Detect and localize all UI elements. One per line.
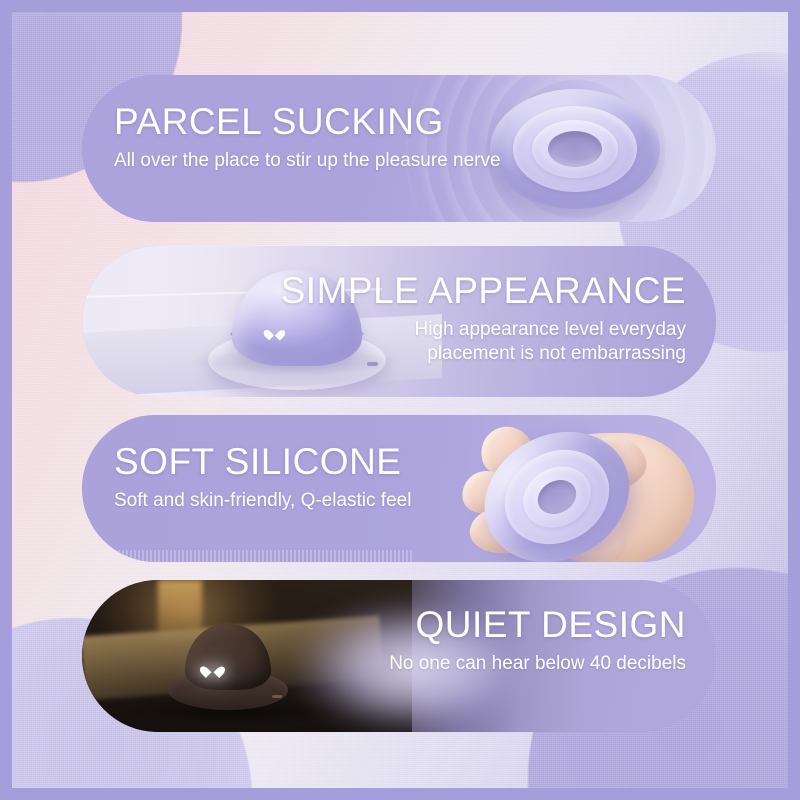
hand-illustration (454, 423, 704, 562)
feature-subtitle-3-line-1: Soft and skin-friendly, Q-elastic feel (114, 489, 411, 513)
night-device-charge-port (272, 695, 282, 698)
feature-panel-quiet-design: QUIET DESIGN No one can hear below 40 de… (82, 580, 716, 732)
feature-subtitle-4-line-1: No one can hear below 40 decibels (389, 652, 686, 676)
heart-indicator-light-icon (205, 664, 220, 678)
feature-subtitle-2: High appearance level everyday placement… (281, 318, 686, 367)
feature-panel-simple-appearance: SIMPLE APPEARANCE High appearance level … (82, 246, 716, 397)
feature-title-2: SIMPLE APPEARANCE (281, 272, 686, 309)
ring-device-suction-hole (548, 131, 602, 167)
night-device-illustration (168, 624, 288, 710)
feature-subtitle-4: No one can hear below 40 decibels (389, 652, 686, 676)
heart-glyph (268, 328, 281, 340)
heart-glyph (205, 664, 220, 678)
feature-panel-soft-silicone: SOFT SILICONE Soft and skin-friendly, Q-… (82, 415, 716, 562)
feature-title-3: SOFT SILICONE (114, 443, 411, 480)
feature-panel-parcel-sucking: PARCEL SUCKING All over the place to sti… (82, 75, 716, 222)
heart-button-icon (268, 328, 281, 340)
night-device-dome (185, 624, 271, 690)
feature-text-block-4: QUIET DESIGN No one can hear below 40 de… (389, 606, 686, 676)
product-feature-infographic: PARCEL SUCKING All over the place to sti… (0, 0, 800, 800)
feature-subtitle-2-line-1: High appearance level everyday (281, 318, 686, 342)
feature-subtitle-2-line-2: placement is not embarrassing (281, 342, 686, 366)
feature-subtitle-1: All over the place to stir up the pleasu… (114, 149, 501, 173)
feature-text-block-2: SIMPLE APPEARANCE High appearance level … (281, 272, 686, 367)
feature-text-block-3: SOFT SILICONE Soft and skin-friendly, Q-… (114, 443, 411, 513)
feature-subtitle-3: Soft and skin-friendly, Q-elastic feel (114, 489, 411, 513)
feature-title-4: QUIET DESIGN (389, 606, 686, 643)
ring-device-illustration (490, 89, 660, 209)
feature-text-block-1: PARCEL SUCKING All over the place to sti… (114, 103, 501, 173)
towel-texture-strip (82, 550, 412, 562)
feature-subtitle-1-line-1: All over the place to stir up the pleasu… (114, 149, 501, 173)
feature-title-1: PARCEL SUCKING (114, 103, 501, 140)
